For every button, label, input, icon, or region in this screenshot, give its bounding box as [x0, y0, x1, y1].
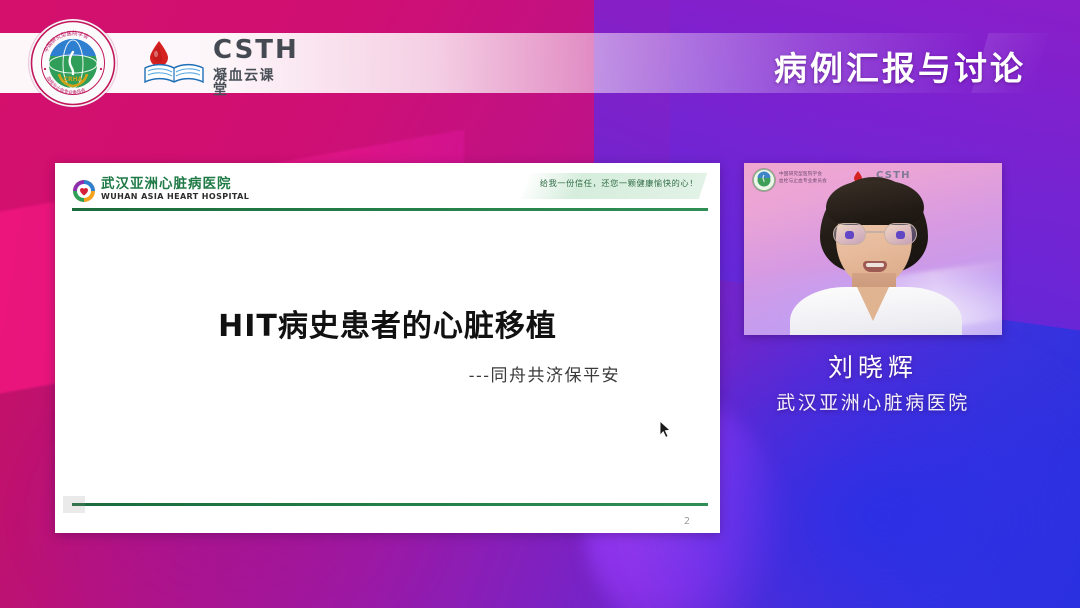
presentation-slide[interactable]: 武汉亚洲心脏病医院 WUHAN ASIA HEART HOSPITAL 给我一份… — [55, 163, 720, 533]
csth-wordmark: CSTH — [213, 37, 299, 63]
slide-corner-mark — [63, 496, 85, 513]
hospital-name-cn: 武汉亚洲心脏病医院 — [101, 177, 232, 191]
crha-seal-icon: CRHA 中国研究型医院学会 血栓与止血专业委员会 — [29, 19, 117, 107]
csth-logo: CSTH 凝血云课堂 — [143, 38, 289, 92]
slide-page-number: 2 — [684, 516, 690, 527]
presenter-mouth — [863, 261, 887, 272]
slide-header-rule — [72, 208, 708, 211]
video-crha-label: 中国研究型医院学会血栓与止血专业委员会 — [779, 171, 827, 185]
svg-text:CRHA: CRHA — [64, 76, 83, 83]
page-header: CRHA 中国研究型医院学会 血栓与止血专业委员会 — [0, 0, 1080, 120]
hospital-slogan: 给我一份信任，还您一颗健康愉快的心！ — [540, 180, 698, 188]
presenter-organization: 武汉亚洲心脏病医院 — [724, 388, 1022, 415]
slide-title: HIT病史患者的心脏移植 — [55, 301, 720, 345]
slide-subtitle: ---同舟共济保平安 — [469, 361, 620, 386]
csth-subtitle: 凝血云课堂 — [213, 68, 289, 96]
hospital-heart-logo-icon — [72, 179, 96, 203]
presenter-fringe — [826, 181, 924, 225]
presenter-video[interactable]: 中国研究型医院学会血栓与止血专业委员会 CSTH — [744, 163, 1002, 335]
presenter-collar — [857, 287, 889, 321]
open-book-icon — [143, 62, 205, 88]
hospital-name-en: WUHAN ASIA HEART HOSPITAL — [101, 193, 249, 201]
slide-footer-rule — [72, 503, 708, 506]
mouse-pointer-icon — [658, 420, 672, 440]
presenter-glasses — [832, 223, 918, 245]
video-crha-seal-icon — [753, 169, 775, 191]
page-title: 病例汇报与讨论 — [774, 42, 1026, 90]
presenter-name: 刘晓辉 — [744, 348, 1002, 384]
